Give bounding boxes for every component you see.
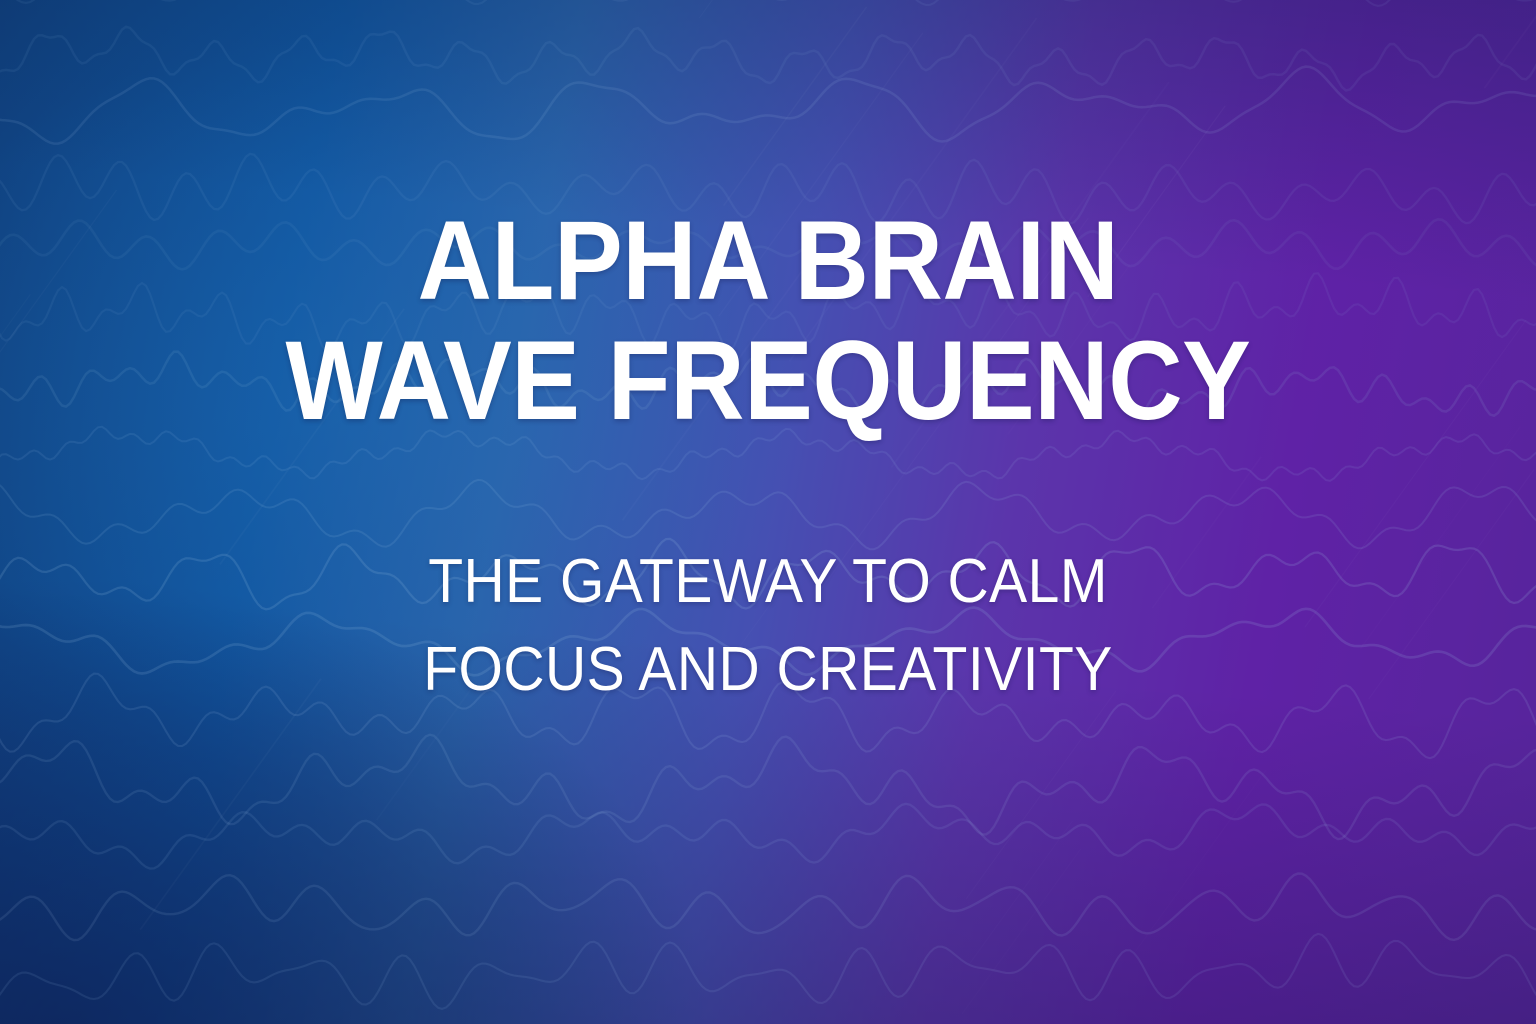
subtitle-line-1: THE GATEWAY TO CALM bbox=[98, 538, 1438, 626]
title-line-2: WAVE FREQUENCY bbox=[98, 326, 1438, 436]
poster: ALPHA BRAIN WAVE FREQUENCY THE GATEWAY T… bbox=[0, 0, 1536, 1024]
poster-content: ALPHA BRAIN WAVE FREQUENCY THE GATEWAY T… bbox=[0, 206, 1536, 714]
page-title: ALPHA BRAIN WAVE FREQUENCY bbox=[98, 206, 1438, 436]
title-line-1: ALPHA BRAIN bbox=[98, 206, 1438, 316]
subtitle-line-2: FOCUS AND CREATIVITY bbox=[98, 626, 1438, 714]
page-subtitle: THE GATEWAY TO CALM FOCUS AND CREATIVITY bbox=[98, 538, 1438, 714]
